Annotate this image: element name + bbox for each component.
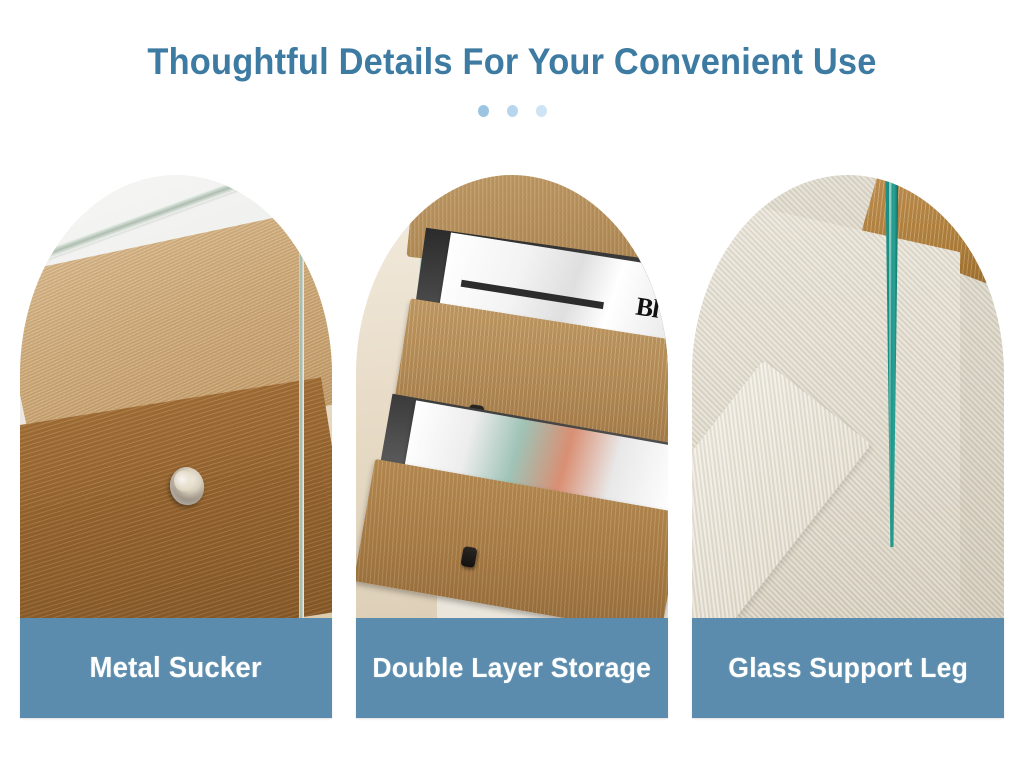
photo-scene <box>692 175 1004 618</box>
caption-label: Double Layer Storage <box>373 652 652 684</box>
feature-card-double-layer-storage[interactable]: Bl Double Layer Storage <box>356 175 668 718</box>
magazine-letter-detail: Bl <box>634 291 661 324</box>
dot-2-icon <box>507 105 518 117</box>
feature-card-list: Metal Sucker Bl <box>20 175 1004 718</box>
photo-glass-support-leg <box>692 175 1004 618</box>
caption-bar-glass-support-leg: Glass Support Leg <box>692 618 1004 718</box>
caption-label: Metal Sucker <box>90 652 262 685</box>
magazine-bar-detail <box>461 281 603 310</box>
page-header: Thoughtful Details For Your Convenient U… <box>0 0 1024 118</box>
caption-bar-metal-sucker: Metal Sucker <box>20 618 332 718</box>
feature-card-metal-sucker[interactable]: Metal Sucker <box>20 175 332 718</box>
page-title: Thoughtful Details For Your Convenient U… <box>36 43 988 82</box>
dot-1-icon <box>478 105 489 117</box>
dot-3-icon <box>536 105 547 117</box>
photo-scene <box>20 175 332 618</box>
decorative-dots <box>0 104 1024 118</box>
caption-bar-double-layer-storage: Double Layer Storage <box>356 618 668 718</box>
glass-side-strip-shape <box>299 175 304 618</box>
feature-card-glass-support-leg[interactable]: Glass Support Leg <box>692 175 1004 718</box>
photo-metal-sucker <box>20 175 332 618</box>
photo-double-layer-storage: Bl <box>356 175 668 618</box>
caption-label: Glass Support Leg <box>728 652 968 684</box>
photo-scene: Bl <box>356 175 668 618</box>
